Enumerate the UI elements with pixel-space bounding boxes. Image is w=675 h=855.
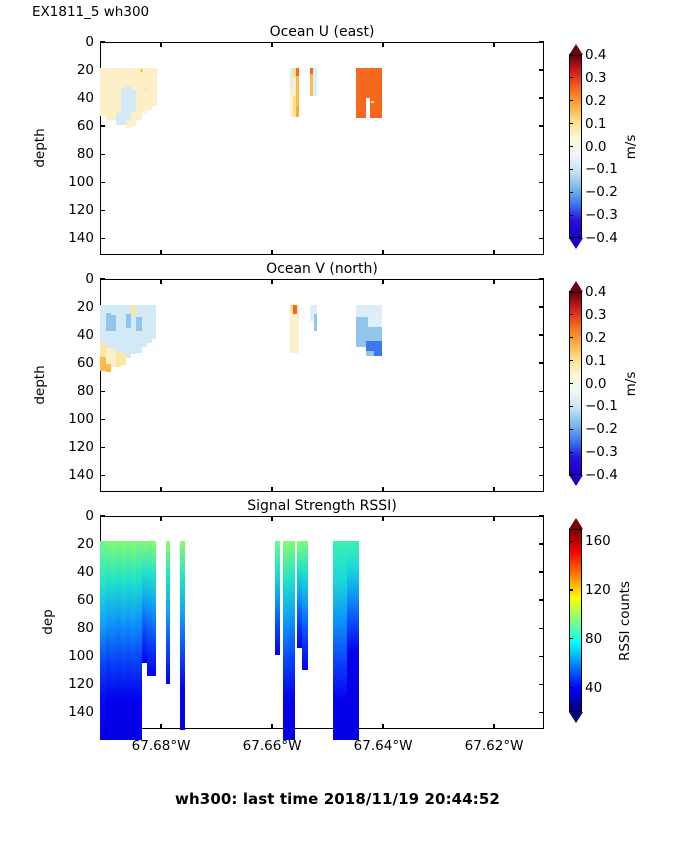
colorbar-tick-label-panel2-8: −0.4	[585, 467, 618, 483]
y-tick-right-panel2-5	[539, 419, 544, 420]
y-tick-label-panel2-3: 60	[38, 355, 94, 371]
colorbar-tick-panel2-3	[569, 360, 573, 361]
colorbar-tick-panel1-7	[569, 215, 573, 216]
y-tick-panel2-0	[100, 278, 105, 279]
data-cell-panel2-37	[368, 317, 382, 327]
colorbar-tick-panel3-3	[569, 687, 573, 688]
y-tick-label-panel2-5: 100	[38, 411, 94, 427]
colorbar-axis-label-panel3: RSSI counts	[617, 581, 633, 661]
x-tick-top-panel3-1	[271, 516, 272, 521]
x-tick-top-panel2-2	[382, 279, 383, 284]
y-tick-right-panel2-0	[539, 278, 544, 279]
x-tick-panel1-3	[493, 250, 494, 255]
y-tick-label-panel3-5: 100	[38, 648, 94, 664]
x-tick-top-panel1-3	[493, 42, 494, 47]
y-tick-label-panel1-6: 120	[38, 202, 94, 218]
x-tick-panel1-2	[382, 250, 383, 255]
y-tick-panel2-6	[100, 447, 105, 448]
x-tick-panel2-3	[493, 487, 494, 492]
y-tick-right-panel3-2	[539, 571, 544, 572]
x-tick-panel3-3	[493, 724, 494, 729]
y-tick-label-panel2-0: 0	[38, 271, 94, 287]
data-cell-panel2-38	[368, 327, 382, 341]
y-tick-label-panel1-3: 60	[38, 118, 94, 134]
x-tick-label-0: 67.68°W	[132, 738, 191, 754]
data-cell-panel2-42	[374, 351, 382, 356]
y-tick-right-panel1-1	[539, 69, 544, 70]
colorbar-tick-label-panel1-4: 0.0	[585, 139, 606, 155]
colorbar-tick-label-panel2-4: 0.0	[585, 376, 606, 392]
colorbar-tick-label-panel2-0: 0.4	[585, 284, 606, 300]
data-cell-panel2-31	[297, 305, 299, 353]
y-tick-right-panel1-6	[539, 210, 544, 211]
colorbar-tick-label-panel3-2: 80	[585, 631, 602, 647]
x-tick-panel3-0	[160, 724, 161, 729]
x-tick-panel2-1	[271, 487, 272, 492]
colorbar-tick-panel1-1	[569, 77, 573, 78]
colorbar-extend-max-panel1	[569, 44, 583, 55]
y-tick-label-panel2-6: 120	[38, 439, 94, 455]
colorbar-tick-panel2-0	[569, 291, 573, 292]
y-tick-label-panel1-4: 80	[38, 146, 94, 162]
y-tick-right-panel1-5	[539, 182, 544, 183]
colorbar-extend-min-panel1	[569, 238, 583, 249]
data-cell-panel1-18	[144, 88, 147, 91]
x-tick-top-panel1-2	[382, 42, 383, 47]
data-cell-panel1-26	[296, 106, 299, 117]
y-tick-label-panel2-2: 40	[38, 327, 94, 343]
colorbar-tick-label-panel2-6: −0.2	[585, 421, 618, 437]
y-tick-right-panel1-2	[539, 97, 544, 98]
colorbar-axis-label-panel1: m/s	[623, 134, 639, 159]
y-tick-label-panel1-0: 0	[38, 34, 94, 50]
data-cell-panel2-41	[366, 351, 374, 356]
y-tick-right-panel3-0	[539, 515, 544, 516]
data-column-panel3-10	[152, 541, 156, 676]
x-tick-panel2-0	[160, 487, 161, 492]
y-tick-label-panel1-5: 100	[38, 174, 94, 190]
data-column-panel3-11	[166, 541, 170, 684]
data-cell-panel2-35	[356, 305, 382, 317]
data-cell-panel1-29	[313, 68, 317, 96]
colorbar-tick-label-panel3-1: 120	[585, 582, 611, 598]
dynamic-render-layer: 0204060801001201400.40.30.20.10.0−0.1−0.…	[0, 0, 675, 855]
y-tick-right-panel1-3	[539, 125, 544, 126]
y-tick-right-panel3-6	[539, 684, 544, 685]
colorbar-tick-panel1-0	[569, 54, 573, 55]
colorbar-tick-label-panel2-7: −0.3	[585, 444, 618, 460]
y-tick-panel3-0	[100, 515, 105, 516]
data-column-panel3-18	[333, 541, 347, 740]
colorbar-tick-panel1-5	[569, 169, 573, 170]
y-tick-label-panel2-7: 140	[38, 467, 94, 483]
colorbar-tick-label-panel1-1: 0.3	[585, 70, 606, 86]
data-cell-panel2-39	[356, 341, 366, 347]
colorbar-tick-label-panel2-3: 0.1	[585, 353, 606, 369]
colorbar-tick-panel2-2	[569, 337, 573, 338]
x-tick-top-panel3-0	[160, 516, 161, 521]
colorbar-tick-panel2-4	[569, 383, 573, 384]
colorbar-tick-panel1-4	[569, 146, 573, 147]
y-tick-panel1-4	[100, 154, 105, 155]
y-tick-panel1-5	[100, 182, 105, 183]
colorbar-tick-label-panel1-5: −0.1	[585, 161, 618, 177]
colorbar-tick-panel2-8	[569, 474, 573, 475]
x-tick-panel3-1	[271, 724, 272, 729]
y-tick-panel2-5	[100, 419, 105, 420]
colorbar-extend-min-panel3	[569, 712, 583, 723]
data-cell-panel1-25	[296, 76, 299, 106]
data-column-panel3-17	[302, 541, 308, 670]
y-tick-right-panel3-4	[539, 628, 544, 629]
data-cell-panel2-34	[314, 314, 317, 331]
x-tick-top-panel2-0	[160, 279, 161, 284]
colorbar-extend-min-panel2	[569, 475, 583, 486]
data-cell-panel1-17	[140, 69, 143, 72]
y-tick-panel2-4	[100, 391, 105, 392]
colorbar-tick-panel2-5	[569, 406, 573, 407]
colorbar-tick-label-panel3-3: 40	[585, 680, 602, 696]
colorbar-tick-label-panel2-1: 0.3	[585, 307, 606, 323]
colorbar-tick-label-panel1-6: −0.2	[585, 184, 618, 200]
colorbar-tick-panel1-2	[569, 100, 573, 101]
colorbar-tick-panel2-7	[569, 452, 573, 453]
colorbar-tick-panel3-1	[569, 589, 573, 590]
y-tick-panel1-7	[100, 238, 105, 239]
data-cell-panel1-30	[356, 68, 382, 98]
y-tick-right-panel2-6	[539, 447, 544, 448]
colorbar-tick-label-panel1-0: 0.4	[585, 47, 606, 63]
x-tick-panel1-0	[160, 250, 161, 255]
colorbar-extend-max-panel3	[569, 518, 583, 529]
colorbar-tick-label-panel1-7: −0.3	[585, 207, 618, 223]
y-tick-label-panel3-3: 60	[38, 592, 94, 608]
data-column-panel3-15	[289, 541, 295, 740]
x-tick-panel3-2	[382, 724, 383, 729]
y-tick-right-panel2-3	[539, 362, 544, 363]
y-tick-label-panel1-2: 40	[38, 90, 94, 106]
y-tick-label-panel1-7: 140	[38, 230, 94, 246]
x-tick-label-2: 67.64°W	[354, 738, 413, 754]
data-column-panel3-13	[275, 541, 280, 655]
x-tick-top-panel1-0	[160, 42, 161, 47]
colorbar-tick-panel3-0	[569, 541, 573, 542]
y-tick-right-panel3-3	[539, 599, 544, 600]
y-tick-panel1-6	[100, 210, 105, 211]
y-tick-label-panel2-4: 80	[38, 383, 94, 399]
y-tick-right-panel1-7	[539, 238, 544, 239]
y-tick-right-panel3-1	[539, 543, 544, 544]
y-tick-right-panel3-7	[539, 712, 544, 713]
colorbar-extend-max-panel2	[569, 281, 583, 292]
colorbar-tick-panel3-2	[569, 638, 573, 639]
data-cell-panel1-24	[296, 68, 299, 76]
x-tick-top-panel3-3	[493, 516, 494, 521]
y-tick-label-panel3-2: 40	[38, 564, 94, 580]
x-tick-top-panel2-3	[493, 279, 494, 284]
x-tick-top-panel2-1	[271, 279, 272, 284]
colorbar-axis-label-panel2: m/s	[623, 371, 639, 396]
y-tick-right-panel1-4	[539, 154, 544, 155]
y-tick-label-panel2-1: 20	[38, 299, 94, 315]
data-cell-panel2-26	[152, 305, 156, 339]
colorbar-body-panel3	[569, 529, 582, 712]
figure-bottom-title: wh300: last time 2018/11/19 20:44:52	[0, 790, 675, 808]
colorbar-tick-label-panel2-5: −0.1	[585, 398, 618, 414]
colorbar-tick-panel1-8	[569, 237, 573, 238]
colorbar-tick-label-panel1-2: 0.2	[585, 93, 606, 109]
x-tick-panel1-1	[271, 250, 272, 255]
y-tick-panel1-0	[100, 41, 105, 42]
x-tick-label-1: 67.66°W	[243, 738, 302, 754]
colorbar-tick-panel2-6	[569, 429, 573, 430]
data-cell-panel1-31	[356, 98, 366, 118]
y-tick-label-panel3-1: 20	[38, 536, 94, 552]
y-tick-right-panel2-4	[539, 391, 544, 392]
y-tick-right-panel2-2	[539, 334, 544, 335]
data-column-panel3-19	[347, 541, 359, 652]
y-tick-panel1-3	[100, 125, 105, 126]
x-tick-top-panel1-1	[271, 42, 272, 47]
data-cell-panel2-33	[314, 305, 317, 314]
y-tick-label-panel1-1: 20	[38, 62, 94, 78]
colorbar-tick-label-panel2-2: 0.2	[585, 330, 606, 346]
y-tick-label-panel3-4: 80	[38, 620, 94, 636]
y-tick-right-panel3-5	[539, 656, 544, 657]
x-tick-panel2-2	[382, 487, 383, 492]
colorbar-tick-panel1-6	[569, 192, 573, 193]
colorbar-tick-label-panel1-8: −0.4	[585, 230, 618, 246]
x-tick-label-3: 67.62°W	[465, 738, 524, 754]
data-cell-panel2-40	[366, 341, 382, 351]
y-tick-right-panel2-7	[539, 475, 544, 476]
y-tick-right-panel1-0	[539, 41, 544, 42]
y-tick-label-panel3-6: 120	[38, 676, 94, 692]
y-tick-right-panel2-1	[539, 306, 544, 307]
y-tick-panel2-7	[100, 475, 105, 476]
data-cell-panel2-36	[356, 317, 368, 341]
data-cell-panel1-33	[371, 101, 374, 103]
data-column-panel3-20	[347, 652, 359, 740]
data-column-panel3-12	[180, 541, 185, 730]
colorbar-tick-label-panel3-0: 160	[585, 533, 611, 549]
colorbar-tick-label-panel1-3: 0.1	[585, 116, 606, 132]
y-tick-label-panel3-7: 140	[38, 704, 94, 720]
colorbar-tick-panel2-1	[569, 314, 573, 315]
x-tick-top-panel3-2	[382, 516, 383, 521]
data-cell-panel1-16	[152, 68, 157, 106]
colorbar-tick-panel1-3	[569, 123, 573, 124]
y-tick-label-panel3-0: 0	[38, 508, 94, 524]
